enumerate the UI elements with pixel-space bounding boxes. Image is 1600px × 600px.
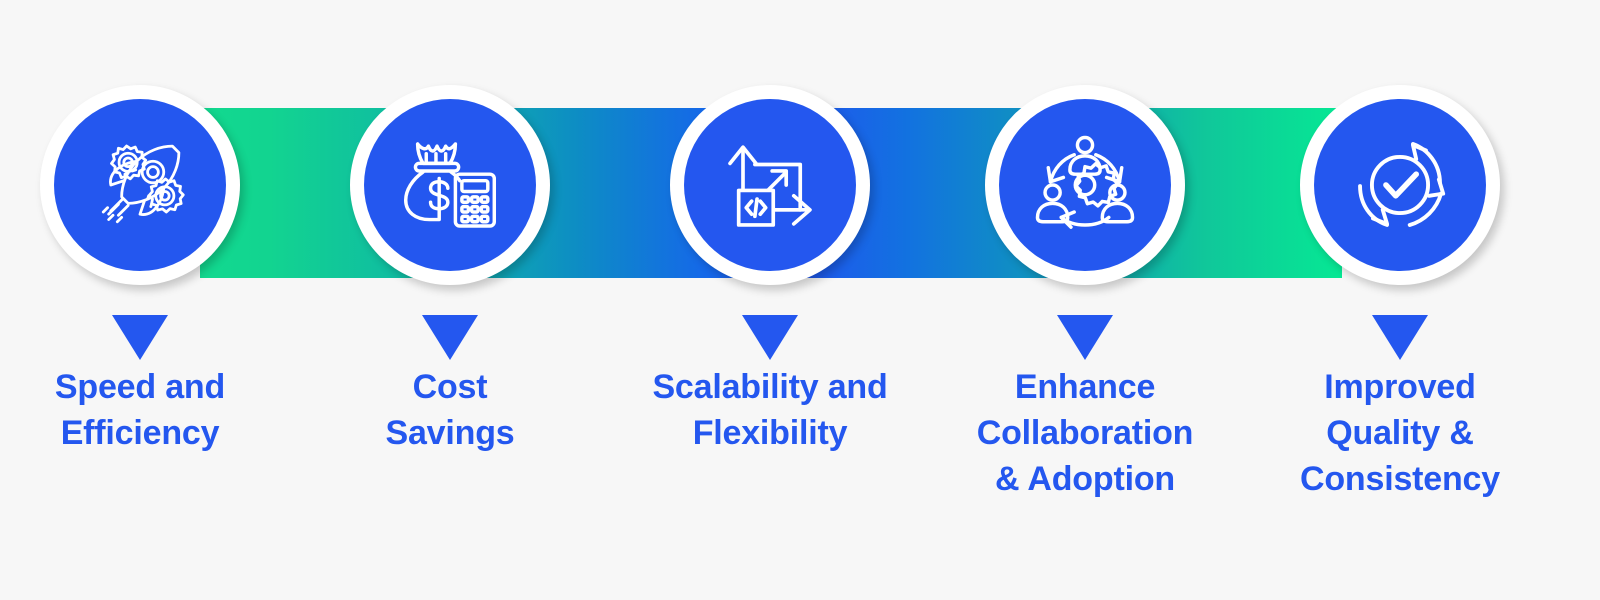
badge-disc: [684, 99, 856, 271]
step-label-cost-savings: Cost Savings: [310, 365, 590, 457]
team-gear-collaboration-icon: [1031, 131, 1139, 239]
benefits-infographic: Speed and Efficiency: [0, 0, 1600, 600]
pointer-triangle: [422, 315, 478, 360]
pointer-triangle: [1372, 315, 1428, 360]
step-improved-quality-and-consistency[interactable]: Improved Quality & Consistency: [1260, 0, 1540, 600]
step-label-speed-and-efficiency: Speed and Efficiency: [0, 365, 280, 457]
step-label-scalability-and-flexibility: Scalability and Flexibility: [630, 365, 910, 457]
step-enhance-collaboration-and-adoption[interactable]: Enhance Collaboration & Adoption: [945, 0, 1225, 600]
pointer-triangle: [1057, 315, 1113, 360]
step-scalability-and-flexibility[interactable]: Scalability and Flexibility: [630, 0, 910, 600]
badge-disc: [54, 99, 226, 271]
money-bag-calculator-icon: [396, 131, 504, 239]
pointer-triangle: [112, 315, 168, 360]
icon-badge-cost-savings[interactable]: [350, 85, 550, 285]
badge-disc: [999, 99, 1171, 271]
badge-disc: [364, 99, 536, 271]
icon-badge-improved-quality[interactable]: [1300, 85, 1500, 285]
icon-badge-speed-and-efficiency[interactable]: [40, 85, 240, 285]
rocket-gear-icon: [86, 131, 194, 239]
step-speed-and-efficiency[interactable]: Speed and Efficiency: [0, 0, 280, 600]
step-cost-savings[interactable]: Cost Savings: [310, 0, 590, 600]
badge-disc: [1314, 99, 1486, 271]
step-label-improved-quality-and-consistency: Improved Quality & Consistency: [1260, 365, 1540, 503]
icon-badge-enhance-collaboration[interactable]: [985, 85, 1185, 285]
icon-badge-scalability-and-flexibility[interactable]: [670, 85, 870, 285]
pointer-triangle: [742, 315, 798, 360]
checkmark-cycle-icon: [1346, 131, 1454, 239]
step-label-enhance-collaboration-and-adoption: Enhance Collaboration & Adoption: [945, 365, 1225, 503]
scalability-arrows-code-icon: [716, 131, 824, 239]
